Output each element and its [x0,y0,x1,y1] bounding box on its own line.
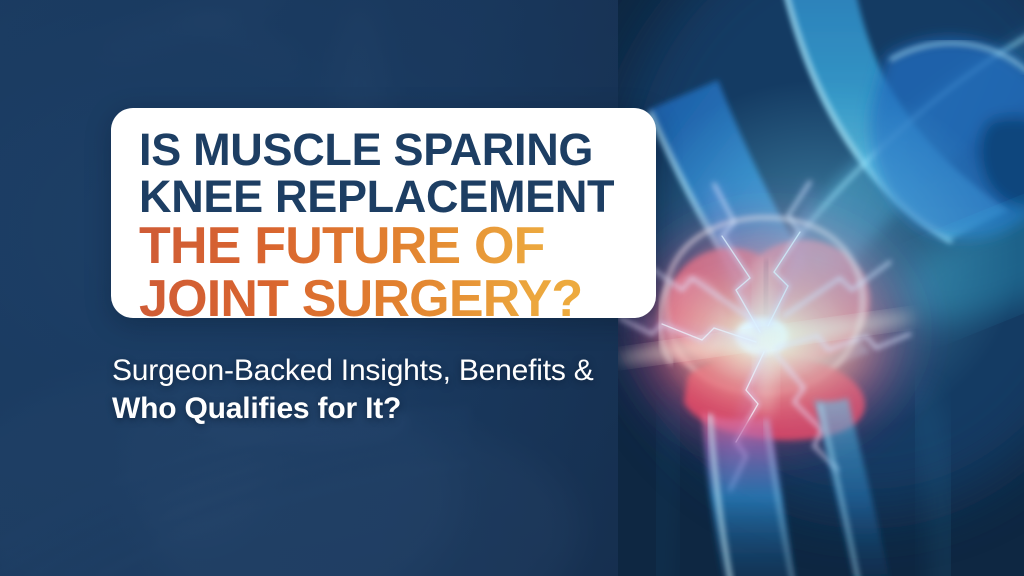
headline-line-1: IS MUSCLE SPARING [139,126,642,173]
headline-line-2: KNEE REPLACEMENT [139,173,642,220]
headline-line-4: JOINT SURGERY? [139,273,642,326]
headline-card: IS MUSCLE SPARING KNEE REPLACEMENT THE F… [111,108,656,318]
knee-replacement-banner: IS MUSCLE SPARING KNEE REPLACEMENT THE F… [0,0,1024,576]
headline-text-block: IS MUSCLE SPARING KNEE REPLACEMENT THE F… [139,126,642,326]
subtitle-line-2: Who Qualifies for It? [112,390,712,428]
subtitle-block: Surgeon-Backed Insights, Benefits & Who … [112,352,712,428]
knee-xray-illustration [618,0,1024,576]
subtitle-line-1: Surgeon-Backed Insights, Benefits & [112,352,712,390]
headline-line-3: THE FUTURE OF [139,220,642,273]
